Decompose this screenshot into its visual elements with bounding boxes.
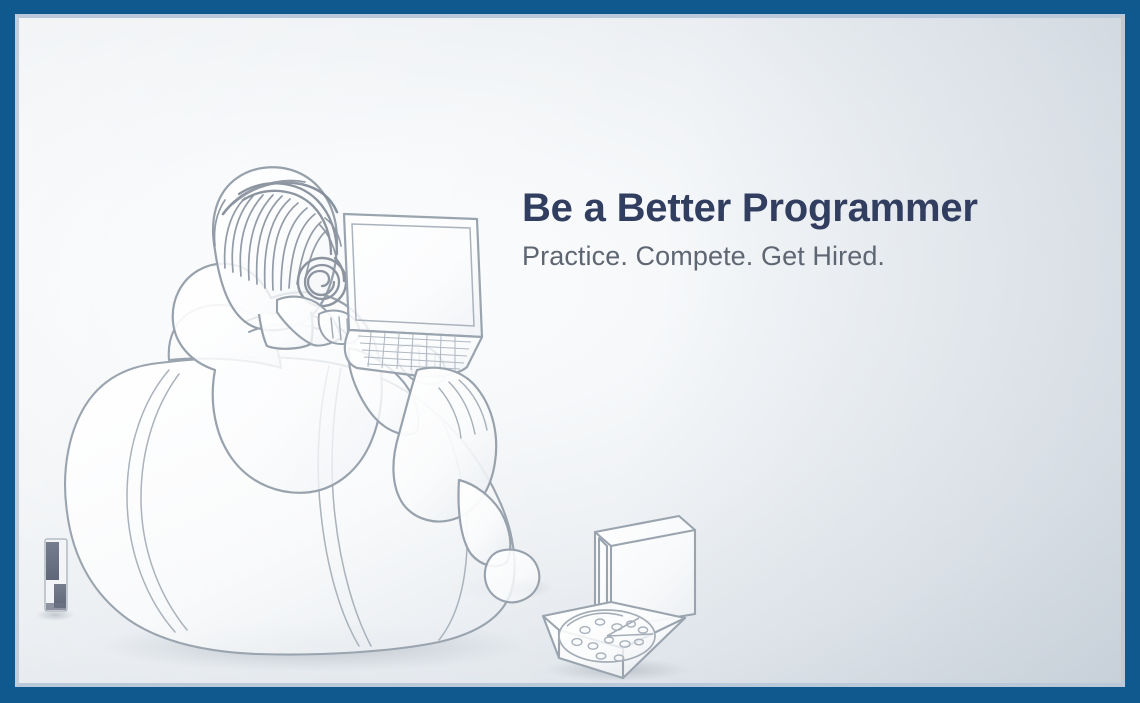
person-foot xyxy=(485,550,539,603)
laptop-screen xyxy=(344,214,482,337)
page-title: Be a Better Programmer xyxy=(522,186,1042,231)
hero-text-block: Be a Better Programmer Practice. Compete… xyxy=(522,186,1042,272)
banner-inner-frame: Be a Better Programmer Practice. Compete… xyxy=(15,14,1125,687)
drink-cup xyxy=(45,539,67,611)
laptop xyxy=(344,214,482,377)
hero-banner: Be a Better Programmer Practice. Compete… xyxy=(0,0,1140,703)
page-subtitle: Practice. Compete. Get Hired. xyxy=(522,240,1042,272)
hero-illustration xyxy=(19,18,1125,687)
